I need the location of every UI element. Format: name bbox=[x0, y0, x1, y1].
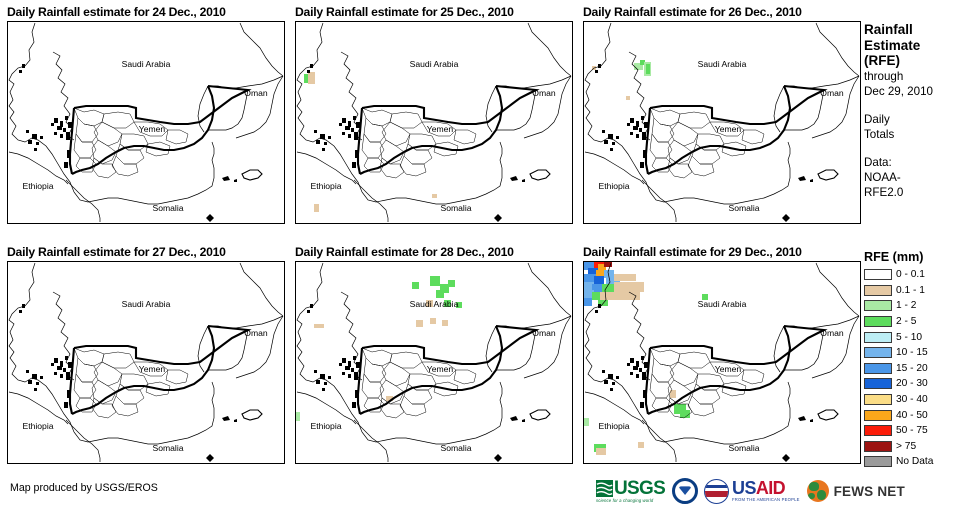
legend-label: 50 - 75 bbox=[896, 425, 928, 436]
fews-wordmark: FEWS NET bbox=[834, 484, 905, 499]
label-somalia: Somalia bbox=[728, 203, 759, 213]
usaid-us: US bbox=[732, 478, 756, 498]
legend-rows: 0 - 0.10.1 - 11 - 22 - 55 - 1010 - 1515 … bbox=[864, 267, 964, 470]
usgs-logo: USGS science for a changing world bbox=[596, 480, 665, 503]
label-ethiopia: Ethiopia bbox=[22, 181, 53, 191]
panel-title: Daily Rainfall estimate for 24 Dec., 201… bbox=[7, 5, 226, 19]
legend-swatch bbox=[864, 285, 892, 296]
legend-swatch bbox=[864, 347, 892, 358]
label-yemen: Yemen bbox=[427, 364, 454, 374]
map-frame: Saudi ArabiaOmanYemenEthiopiaSomalia bbox=[295, 261, 573, 464]
legend-item: 0 - 0.1 bbox=[864, 267, 964, 283]
legend-item: 1 - 2 bbox=[864, 298, 964, 314]
rainfall-map-svg: Saudi ArabiaOmanYemenEthiopiaSomalia bbox=[584, 22, 860, 223]
label-ethiopia: Ethiopia bbox=[598, 181, 629, 191]
label-oman: Oman bbox=[532, 88, 556, 98]
noaa-bird-icon bbox=[678, 485, 692, 495]
legend-item: 40 - 50 bbox=[864, 407, 964, 423]
map-frame: Saudi ArabiaOmanYemenEthiopiaSomalia bbox=[7, 21, 285, 224]
sidebar-totals-line2: Totals bbox=[864, 127, 964, 142]
legend-label: No Data bbox=[896, 456, 933, 467]
label-yemen: Yemen bbox=[715, 364, 742, 374]
legend-label: 10 - 15 bbox=[896, 347, 928, 358]
label-ethiopia: Ethiopia bbox=[310, 181, 341, 191]
legend-swatch bbox=[864, 363, 892, 374]
label-saudi-arabia: Saudi Arabia bbox=[698, 59, 747, 69]
fews-globe-landmass-2 bbox=[817, 490, 826, 500]
label-somalia: Somalia bbox=[440, 443, 471, 453]
usaid-tagline: FROM THE AMERICAN PEOPLE bbox=[732, 497, 800, 502]
usaid-aid: AID bbox=[756, 478, 785, 498]
sidebar-data-line3: RFE2.0 bbox=[864, 185, 964, 200]
legend-item: 5 - 10 bbox=[864, 329, 964, 345]
fews-net-logo: FEWS NET bbox=[807, 480, 905, 502]
legend-label: > 75 bbox=[896, 441, 916, 452]
legend-label: 5 - 10 bbox=[896, 332, 922, 343]
map-frame: Saudi ArabiaOmanYemenEthiopiaSomalia bbox=[295, 21, 573, 224]
rainfall-map-svg: Saudi ArabiaOmanYemenEthiopiaSomalia bbox=[296, 262, 572, 463]
label-somalia: Somalia bbox=[152, 443, 183, 453]
panel-title: Daily Rainfall estimate for 26 Dec., 201… bbox=[583, 5, 802, 19]
legend-title: RFE (mm) bbox=[864, 250, 964, 264]
legend-item: 30 - 40 bbox=[864, 392, 964, 408]
legend-label: 0.1 - 1 bbox=[896, 285, 925, 296]
legend-item: 0.1 - 1 bbox=[864, 283, 964, 299]
label-yemen: Yemen bbox=[427, 124, 454, 134]
info-sidebar: Rainfall Estimate (RFE) through Dec 29, … bbox=[864, 22, 964, 200]
label-yemen: Yemen bbox=[139, 124, 166, 134]
rainfall-map-svg: Saudi ArabiaOmanYemenEthiopiaSomalia bbox=[8, 262, 284, 463]
label-oman: Oman bbox=[820, 88, 844, 98]
legend-item: 10 - 15 bbox=[864, 345, 964, 361]
panel-title: Daily Rainfall estimate for 28 Dec., 201… bbox=[295, 245, 514, 259]
legend-label: 1 - 2 bbox=[896, 300, 916, 311]
legend-label: 15 - 20 bbox=[896, 363, 928, 374]
legend-label: 0 - 0.1 bbox=[896, 269, 925, 280]
legend-label: 40 - 50 bbox=[896, 410, 928, 421]
legend-swatch bbox=[864, 300, 892, 311]
panel-title: Daily Rainfall estimate for 25 Dec., 201… bbox=[295, 5, 514, 19]
label-saudi-arabia: Saudi Arabia bbox=[122, 59, 171, 69]
map-frame: Saudi ArabiaOmanYemenEthiopiaSomalia bbox=[7, 261, 285, 464]
legend-item: 50 - 75 bbox=[864, 423, 964, 439]
sidebar-spacer-1 bbox=[864, 99, 964, 112]
label-somalia: Somalia bbox=[152, 203, 183, 213]
sidebar-date: Dec 29, 2010 bbox=[864, 84, 964, 99]
panel-title: Daily Rainfall estimate for 29 Dec., 201… bbox=[583, 245, 802, 259]
noaa-logo-inner bbox=[675, 481, 695, 501]
legend-swatch bbox=[864, 269, 892, 280]
legend-item: No Data bbox=[864, 454, 964, 470]
usaid-seal-icon bbox=[704, 479, 729, 504]
fews-globe-icon bbox=[807, 480, 829, 502]
label-oman: Oman bbox=[244, 328, 268, 338]
sidebar-through: through bbox=[864, 69, 964, 84]
legend-swatch bbox=[864, 425, 892, 436]
usgs-wave-icon bbox=[596, 480, 613, 497]
usaid-logo: USAID FROM THE AMERICAN PEOPLE bbox=[704, 479, 800, 504]
map-frame: Saudi ArabiaOmanYemenEthiopiaSomalia bbox=[583, 261, 861, 464]
label-saudi-arabia: Saudi Arabia bbox=[122, 299, 171, 309]
usaid-seal-band-top bbox=[705, 485, 728, 489]
noaa-logo bbox=[672, 478, 698, 504]
rainfall-map-svg: Saudi ArabiaOmanYemenEthiopiaSomalia bbox=[8, 22, 284, 223]
label-somalia: Somalia bbox=[728, 443, 759, 453]
label-saudi-arabia: Saudi Arabia bbox=[410, 59, 459, 69]
sidebar-spacer-2 bbox=[864, 142, 964, 155]
legend-item: > 75 bbox=[864, 439, 964, 455]
legend-item: 2 - 5 bbox=[864, 314, 964, 330]
rainfall-map-svg: Saudi ArabiaOmanYemenEthiopiaSomalia bbox=[296, 22, 572, 223]
legend-swatch bbox=[864, 410, 892, 421]
rfe-legend: RFE (mm) 0 - 0.10.1 - 11 - 22 - 55 - 101… bbox=[864, 250, 964, 470]
label-yemen: Yemen bbox=[715, 124, 742, 134]
label-ethiopia: Ethiopia bbox=[22, 421, 53, 431]
rainfall-map-svg: Saudi ArabiaOmanYemenEthiopiaSomalia bbox=[584, 262, 860, 463]
legend-item: 20 - 30 bbox=[864, 376, 964, 392]
sidebar-title-line2: Estimate bbox=[864, 38, 964, 54]
fews-globe-landmass-1 bbox=[809, 482, 819, 491]
sidebar-title-line1: Rainfall bbox=[864, 22, 964, 38]
usaid-seal-band-mid bbox=[705, 491, 728, 496]
legend-item: 15 - 20 bbox=[864, 361, 964, 377]
legend-swatch bbox=[864, 316, 892, 327]
label-somalia: Somalia bbox=[440, 203, 471, 213]
label-oman: Oman bbox=[532, 328, 556, 338]
label-ethiopia: Ethiopia bbox=[598, 421, 629, 431]
legend-swatch bbox=[864, 332, 892, 343]
label-oman: Oman bbox=[820, 328, 844, 338]
label-saudi-arabia: Saudi Arabia bbox=[410, 299, 459, 309]
legend-label: 20 - 30 bbox=[896, 378, 928, 389]
legend-swatch bbox=[864, 394, 892, 405]
sidebar-data-line1: Data: bbox=[864, 155, 964, 170]
map-credit: Map produced by USGS/EROS bbox=[10, 482, 158, 494]
usaid-wordmark: USAID bbox=[732, 480, 800, 497]
usgs-tagline: science for a changing world bbox=[596, 498, 665, 503]
label-oman: Oman bbox=[244, 88, 268, 98]
legend-swatch bbox=[864, 378, 892, 389]
legend-label: 2 - 5 bbox=[896, 316, 916, 327]
legend-label: 30 - 40 bbox=[896, 394, 928, 405]
label-saudi-arabia: Saudi Arabia bbox=[698, 299, 747, 309]
legend-swatch bbox=[864, 456, 892, 467]
panel-title: Daily Rainfall estimate for 27 Dec., 201… bbox=[7, 245, 226, 259]
label-ethiopia: Ethiopia bbox=[310, 421, 341, 431]
sidebar-title-line3: (RFE) bbox=[864, 53, 964, 69]
fews-globe-landmass-3 bbox=[808, 493, 815, 500]
sidebar-data-line2: NOAA- bbox=[864, 170, 964, 185]
agency-logos: USGS science for a changing world USAID … bbox=[596, 476, 905, 506]
map-frame: Saudi ArabiaOmanYemenEthiopiaSomalia bbox=[583, 21, 861, 224]
label-yemen: Yemen bbox=[139, 364, 166, 374]
usgs-wordmark: USGS bbox=[614, 480, 665, 498]
sidebar-totals-line1: Daily bbox=[864, 112, 964, 127]
legend-swatch bbox=[864, 441, 892, 452]
